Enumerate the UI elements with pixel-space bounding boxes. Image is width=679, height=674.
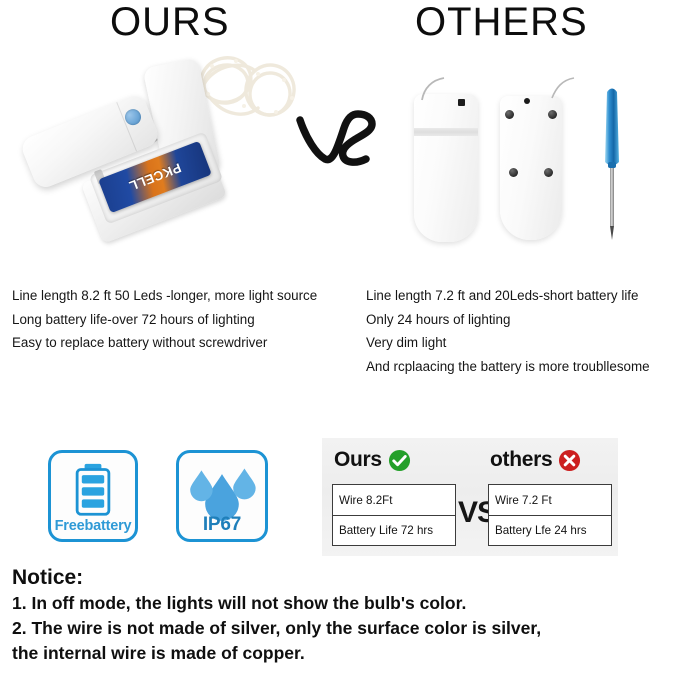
- badge-label: IP67: [179, 514, 265, 536]
- notice-line: 2. The wire is not made of silver, only …: [12, 616, 672, 641]
- bullet-line: Line length 8.2 ft 50 Leds -longer, more…: [12, 284, 317, 308]
- bullet-line: Only 24 hours of lighting: [366, 308, 650, 332]
- notice-line: 1. In off mode, the lights will not show…: [12, 591, 672, 616]
- notice-line: the internal wire is made of copper.: [12, 641, 672, 666]
- screwed-battery-pack: [500, 96, 562, 240]
- pack-seam-band: [414, 128, 478, 136]
- notice-block: Notice: 1. In off mode, the lights will …: [12, 565, 672, 666]
- badge-free-battery: Freebattery: [48, 450, 138, 542]
- bullets-ours: Line length 8.2 ft 50 Leds -longer, more…: [12, 284, 317, 355]
- screw-icon: [548, 110, 557, 119]
- notice-title: Notice:: [12, 565, 672, 591]
- comparison-panel: Ours others Wire 8.2Ft Battery Life 72 h…: [322, 438, 618, 556]
- badge-label: Freebattery: [51, 518, 135, 534]
- table-row: Wire 8.2Ft: [333, 485, 455, 515]
- bullet-line: And rcplaacing the battery is more troub…: [366, 355, 650, 379]
- product-photo-ours: PKCELL: [10, 40, 300, 270]
- bullet-line: Line length 7.2 ft and 20Leds-short batt…: [366, 284, 650, 308]
- comparison-header-others: others: [490, 448, 581, 472]
- comparison-title-others: others: [490, 448, 552, 472]
- screw-icon: [505, 110, 514, 119]
- screw-icon: [509, 168, 518, 177]
- red-cross-icon: [558, 449, 581, 472]
- blue-screwdriver-icon: [596, 82, 628, 242]
- heading-ours: OURS: [110, 0, 230, 45]
- badge-ip67: IP67: [176, 450, 268, 542]
- pack-top-dot-icon: [524, 98, 530, 104]
- table-row: Battery Life 72 hrs: [333, 515, 455, 545]
- bullets-others: Line length 7.2 ft and 20Leds-short batt…: [366, 284, 650, 378]
- heading-others: OTHERS: [415, 0, 588, 45]
- table-row: Wire 7.2 Ft: [489, 485, 611, 515]
- bullet-line: Long battery life-over 72 hours of light…: [12, 308, 317, 332]
- product-photo-others: [400, 70, 670, 270]
- comparison-title-ours: Ours: [334, 448, 382, 472]
- screw-icon: [544, 168, 553, 177]
- comparison-table-ours: Wire 8.2Ft Battery Life 72 hrs: [332, 484, 456, 546]
- comparison-table-others: Wire 7.2 Ft Battery Lfe 24 hrs: [488, 484, 612, 546]
- bullet-line: Very dim light: [366, 331, 650, 355]
- green-check-icon: [388, 449, 411, 472]
- table-row: Battery Lfe 24 hrs: [489, 515, 611, 545]
- battery-icon: [51, 459, 135, 521]
- pack2-lead-wire-icon: [550, 76, 576, 100]
- comparison-header-ours: Ours: [334, 448, 411, 472]
- bullet-line: Easy to replace battery without screwdri…: [12, 331, 317, 355]
- sealed-battery-pack: [414, 94, 478, 242]
- pack-lead-wire-icon: [418, 76, 452, 102]
- water-drops-icon: [179, 459, 265, 521]
- infographic-page: OURS OTHERS: [0, 0, 679, 674]
- pack-port-icon: [458, 99, 465, 106]
- vs-script-icon: [292, 104, 398, 176]
